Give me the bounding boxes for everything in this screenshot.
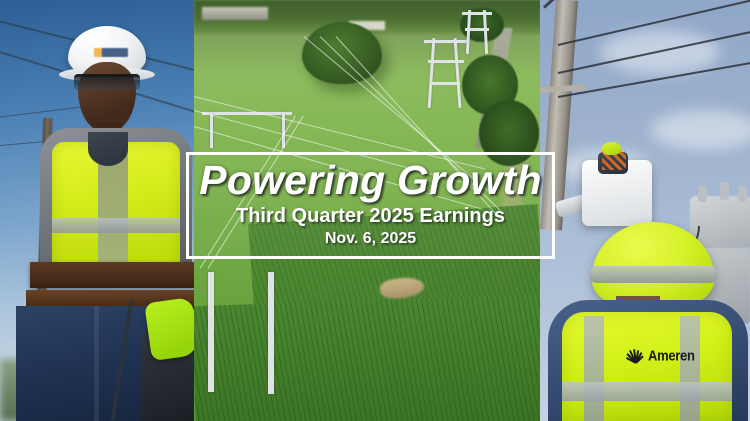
insulator <box>720 182 729 200</box>
cloud <box>650 110 750 150</box>
ameren-wordmark: Ameren <box>648 348 695 363</box>
ameren-logo: Ameren <box>626 344 716 366</box>
photo-panel-lineman-bucket-truck: Ameren <box>540 0 750 421</box>
safety-glasses-icon <box>74 74 140 90</box>
transmission-tower <box>464 6 490 56</box>
ameren-helmet-logo-icon <box>94 48 128 57</box>
vest-reflective-stripe <box>680 316 700 421</box>
vest-reflective-stripe <box>584 316 604 421</box>
tool-belt <box>30 262 195 288</box>
vest-reflective-band <box>52 218 180 233</box>
safety-glove <box>144 297 195 361</box>
hard-hat <box>602 142 621 155</box>
transmission-tower <box>426 30 466 108</box>
insulator <box>698 186 707 202</box>
distant-farmhouse <box>202 7 268 20</box>
page-title: Powering Growth <box>199 160 541 202</box>
shirt-collar <box>88 132 128 166</box>
transmission-tower-pole <box>206 272 214 392</box>
presentation-title-slide: Ameren Powering Growth Third Quarter 202… <box>0 0 750 421</box>
presentation-date: Nov. 6, 2025 <box>325 230 416 248</box>
transmission-tower-pole <box>266 272 274 394</box>
photo-panel-lineman-portrait <box>0 0 195 421</box>
ameren-sunburst-icon <box>626 347 646 363</box>
title-plate: Powering Growth Third Quarter 2025 Earni… <box>186 152 555 259</box>
page-subtitle: Third Quarter 2025 Earnings <box>236 205 505 227</box>
crop-rows <box>194 294 541 421</box>
vest-reflective-stripe <box>562 382 732 401</box>
insulator <box>738 186 747 202</box>
